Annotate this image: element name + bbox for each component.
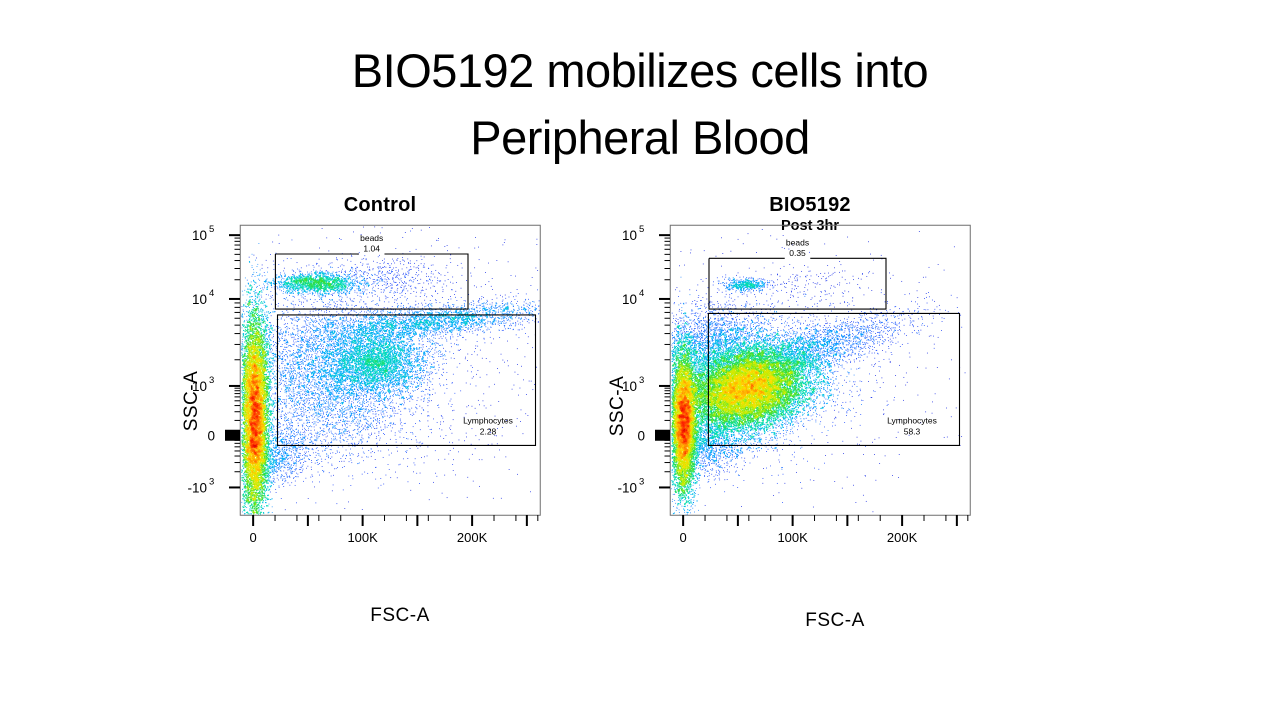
plot-panel-bio5192: BIO5192 Post 3hr SSC-A FSC-A: [595, 185, 1025, 655]
scatter-plot-control: [165, 185, 595, 655]
scatter-plot-bio5192: [595, 185, 1025, 655]
y-axis-title-bio5192: SSC-A: [607, 361, 629, 451]
x-axis-title-bio5192: FSC-A: [780, 610, 890, 632]
page-title: BIO5192 mobilizes cells into Peripheral …: [0, 38, 1280, 171]
plot-panel-control: Control SSC-A FSC-A: [165, 185, 595, 655]
x-axis-title-control: FSC-A: [345, 605, 455, 627]
y-axis-title-control: SSC-A: [181, 356, 203, 446]
